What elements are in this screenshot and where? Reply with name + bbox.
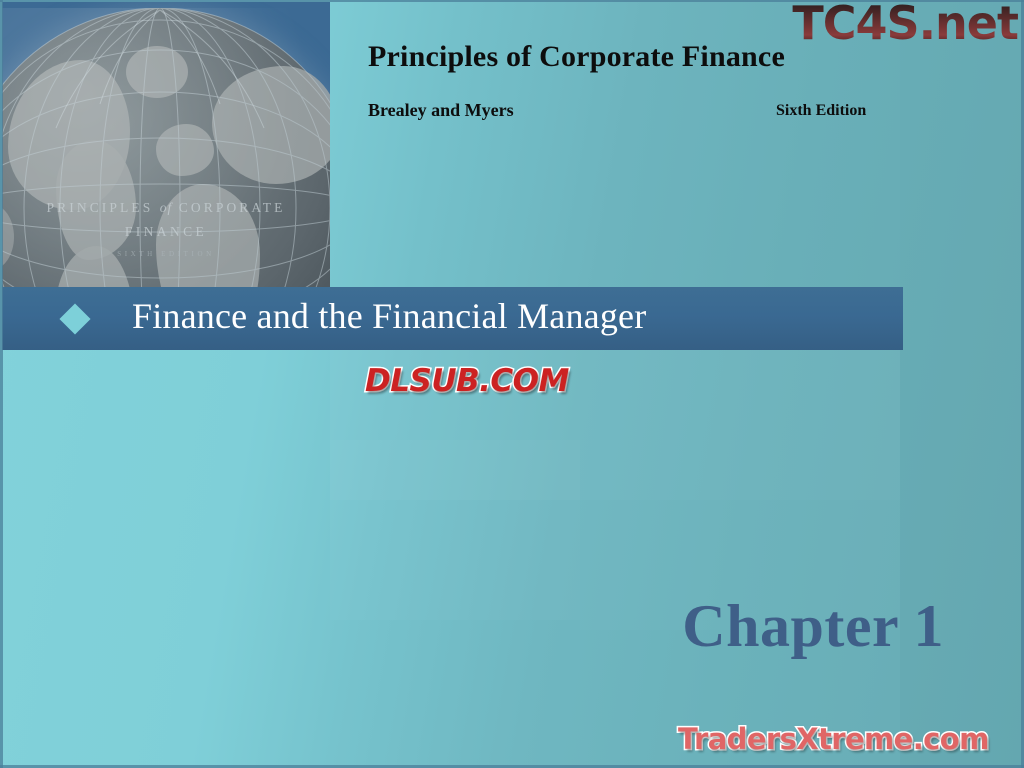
cover-edition-label: SIXTH EDITION	[2, 250, 330, 258]
slide-border-left	[0, 0, 3, 768]
watermark-tradersxtreme: TradersXtreme.com	[678, 722, 989, 756]
presentation-slide: PRINCIPLES of CORPORATE FINANCE SIXTH ED…	[0, 0, 1024, 768]
page-title: Principles of Corporate Finance	[368, 40, 785, 74]
cover-title-pre: PRINCIPLES	[47, 200, 160, 215]
diamond-bullet-icon	[59, 303, 90, 334]
cover-title-post: CORPORATE	[172, 200, 285, 215]
cover-title-line-1: PRINCIPLES of CORPORATE	[2, 200, 330, 216]
cover-title-italic: of	[160, 200, 173, 215]
watermark-dlsub: DLSUB.COM	[365, 363, 569, 399]
globe-icon	[2, 8, 330, 287]
cover-title-line-2: FINANCE	[2, 224, 330, 240]
book-cover-image: PRINCIPLES of CORPORATE FINANCE SIXTH ED…	[2, 2, 330, 287]
chapter-label: Chapter 1	[682, 592, 944, 661]
watermark-tc4s: TC4S.net	[792, 0, 1018, 50]
section-title: Finance and the Financial Manager	[132, 295, 646, 337]
globe-graticule-icon	[2, 8, 330, 287]
authors-label: Brealey and Myers	[368, 100, 514, 121]
section-banner: Finance and the Financial Manager	[2, 287, 903, 350]
edition-label: Sixth Edition	[776, 102, 866, 120]
slide-border-top	[0, 0, 1024, 2]
